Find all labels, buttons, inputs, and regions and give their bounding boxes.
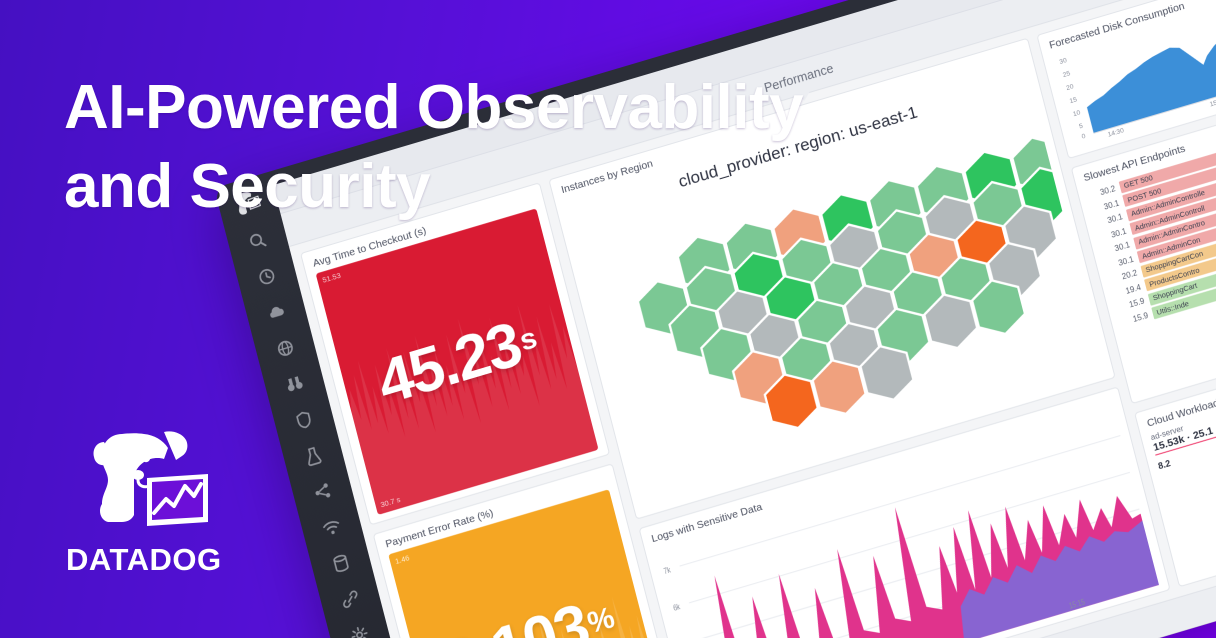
globe-icon[interactable] [273, 336, 297, 361]
beaker-icon[interactable] [301, 443, 325, 468]
brand-wordmark: DATADOG [62, 542, 262, 578]
svg-text:6k: 6k [672, 601, 681, 613]
svg-text:7k: 7k [663, 565, 672, 577]
headline-line-1: AI-Powered Observability [64, 68, 1024, 147]
brand-logo: DATADOG [62, 418, 262, 594]
payment-unit: % [584, 601, 616, 638]
shield-icon[interactable] [292, 407, 316, 432]
page-title: AI-Powered Observability and Security [64, 68, 1024, 227]
search-icon[interactable] [245, 228, 269, 253]
svg-text:5: 5 [1078, 122, 1084, 130]
svg-text:10: 10 [1072, 109, 1081, 118]
datadog-dog-logo-icon [84, 418, 216, 540]
svg-text:25: 25 [1062, 70, 1071, 79]
link-icon[interactable] [338, 587, 362, 612]
payment-value: 0.103 [438, 591, 595, 638]
svg-text:0: 0 [1081, 133, 1087, 141]
forecast-x-tick-1: 14:30 [1107, 127, 1125, 139]
share-nodes-icon[interactable] [310, 479, 334, 504]
headline-line-2: and Security [64, 147, 1024, 226]
payment-value-group: 0.103 % [388, 489, 671, 638]
svg-text:20: 20 [1066, 83, 1075, 92]
svg-text:15: 15 [1069, 96, 1078, 105]
metric-tile-payment[interactable]: 1.46 0.02 0.103 % [388, 489, 671, 638]
gear-icon[interactable] [347, 623, 371, 638]
binoculars-icon[interactable] [283, 372, 307, 397]
wifi-icon[interactable] [320, 515, 344, 540]
cloud-icon[interactable] [264, 300, 288, 325]
clock-history-icon[interactable] [255, 264, 279, 289]
database-icon[interactable] [329, 551, 353, 576]
checkout-value: 45.23 [371, 309, 528, 419]
svg-text:30: 30 [1059, 57, 1068, 66]
